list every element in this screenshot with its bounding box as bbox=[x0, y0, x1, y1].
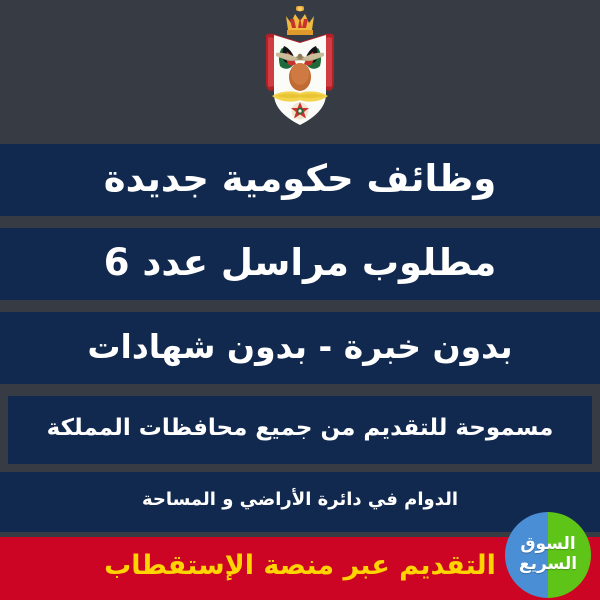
badge-label: السوق السريع bbox=[519, 535, 577, 574]
band-requirements-text: بدون خبرة - بدون شهادات bbox=[87, 330, 512, 363]
band-requirements: بدون خبرة - بدون شهادات bbox=[0, 312, 600, 384]
band-position: مطلوب مراسل عدد 6 bbox=[0, 228, 600, 300]
badge-label-line1: السوق bbox=[519, 535, 577, 555]
band-headline: وظائف حكومية جديدة bbox=[0, 144, 600, 216]
apply-call-to-action-text: التقديم عبر منصة الإستقطاب bbox=[104, 550, 496, 581]
band-eligibility-text: مسموحة للتقديم من جميع محافظات المملكة bbox=[47, 417, 554, 440]
band-headline-text: وظائف حكومية جديدة bbox=[104, 160, 496, 197]
job-advert-poster: وظائف حكومية جديدة مطلوب مراسل عدد 6 بدو… bbox=[0, 0, 600, 600]
band-workplace-text: الدوام في دائرة الأراضي و المساحة bbox=[142, 491, 458, 509]
band-position-text: مطلوب مراسل عدد 6 bbox=[104, 244, 496, 281]
jordan-coat-of-arms-icon bbox=[246, 4, 354, 134]
emblem-container bbox=[0, 0, 600, 138]
band-eligibility: مسموحة للتقديم من جميع محافظات المملكة bbox=[8, 396, 592, 464]
brand-badge[interactable]: السوق السريع bbox=[505, 512, 591, 598]
badge-label-line2: السريع bbox=[519, 555, 577, 575]
